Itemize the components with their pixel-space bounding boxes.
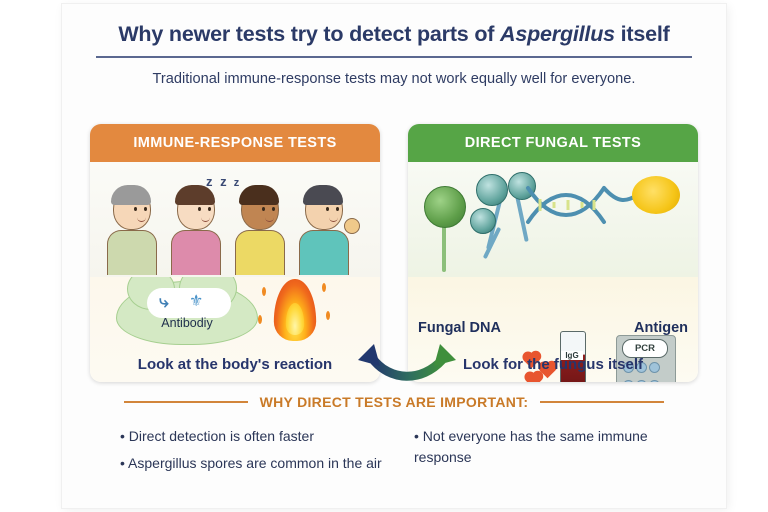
panel-direct-fungal-tests: DIRECT FUNGAL TESTS (408, 124, 698, 382)
person-mouth (201, 217, 210, 222)
flame-spark-icon (322, 283, 326, 292)
person-eye (326, 207, 329, 211)
footer-bullet: • Not everyone has the same immune respo… (414, 426, 696, 468)
conidiophore-head (424, 186, 466, 228)
panel-immune-response-tests: IMMUNE-RESPONSE TESTS (90, 124, 380, 382)
person-eye (262, 207, 265, 211)
person-body (107, 230, 157, 275)
conidiophore-head (470, 208, 496, 234)
person-mouth (265, 217, 274, 222)
people-group-illustration: z z z (102, 174, 368, 274)
footer-bullet-text: Aspergillus spores are common in the air (128, 455, 382, 471)
header: Why newer tests try to detect parts of A… (96, 22, 692, 87)
antibody-molecule-icon: ⤷ (159, 292, 169, 312)
person-body (171, 230, 221, 275)
comparison-panels: IMMUNE-RESPONSE TESTS (90, 124, 698, 384)
person-figure (104, 188, 158, 274)
flame-spark-icon (326, 311, 330, 320)
inflammation-flame-icon (274, 279, 316, 341)
panel-right-caption: Look for the fungus itself (408, 356, 698, 373)
person-eye (144, 207, 147, 211)
person-eye (272, 207, 275, 211)
footer-rule-left (124, 401, 248, 403)
footer-column-left: • Direct detection is often faster • Asp… (92, 426, 394, 480)
person-eye (336, 207, 339, 211)
person-hair (111, 185, 151, 205)
footer-bullet: • Aspergillus spores are common in the a… (120, 453, 394, 474)
person-mouth (329, 217, 338, 222)
person-figure (296, 188, 350, 274)
zzz-lower-text: z (234, 177, 242, 189)
pcr-well (636, 380, 647, 382)
antibody-label: Antibodiy (117, 316, 257, 330)
footer-section: WHY DIRECT TESTS ARE IMPORTANT: • Direct… (92, 394, 696, 480)
cough-hand-icon (344, 218, 360, 234)
panel-right-illustration (408, 162, 698, 277)
panel-left-heading: IMMUNE-RESPONSE TESTS (90, 124, 380, 162)
flame-spark-icon (258, 315, 262, 324)
footer-rule-right (540, 401, 664, 403)
footer-bullet-text: Direct detection is often faster (129, 428, 314, 444)
person-hair (303, 185, 343, 205)
title-divider (96, 56, 692, 58)
conidiophore-head (476, 174, 508, 206)
person-figure (232, 188, 286, 274)
footer-bullet-text: Not everyone has the same immune respons… (414, 428, 648, 465)
infographic-card: Why newer tests try to detect parts of A… (62, 4, 726, 508)
panel-left-caption: Look at the body's reaction (90, 356, 380, 373)
footer-heading-row: WHY DIRECT TESTS ARE IMPORTANT: (92, 394, 696, 410)
person-hair (239, 185, 279, 205)
panel-left-illustration: z z z (90, 162, 380, 277)
page-title: Why newer tests try to detect parts of A… (96, 22, 692, 47)
zzz-upper-text: z z (206, 174, 229, 189)
infographic-root: Why newer tests try to detect parts of A… (0, 0, 768, 512)
title-species-name: Aspergillus (500, 22, 615, 46)
fungal-dna-label: Fungal DNA (418, 320, 501, 336)
panel-right-heading: DIRECT FUNGAL TESTS (408, 124, 698, 162)
person-body (235, 230, 285, 275)
person-eye (134, 207, 137, 211)
title-text-pre: Why newer tests try to detect parts of (118, 22, 500, 46)
footer-columns: • Direct detection is often faster • Asp… (92, 426, 696, 480)
panel-right-lower: IgG PCR Fungal DNA Antigen Look for the … (408, 277, 698, 382)
pcr-well (623, 380, 634, 382)
person-eye (198, 207, 201, 211)
footer-column-right: • Not everyone has the same immune respo… (394, 426, 696, 480)
title-text-post: itself (615, 22, 670, 46)
dna-helix-icon (524, 178, 644, 232)
antigen-particle (526, 373, 542, 382)
person-body (299, 230, 349, 275)
footer-bullet: • Direct detection is often faster (120, 426, 394, 447)
spore-cluster-icon (632, 176, 680, 214)
person-figure (168, 188, 222, 274)
antibody-y-shape-icon: ⚜ (189, 291, 203, 311)
footer-title: WHY DIRECT TESTS ARE IMPORTANT: (260, 394, 529, 410)
antibody-cloud-icon: ⤷ ⚜ Antibodiy (116, 281, 258, 345)
flame-spark-icon (262, 287, 266, 296)
person-eye (208, 207, 211, 211)
pcr-well (649, 380, 660, 382)
antigen-label: Antigen (634, 320, 688, 336)
sleep-zzz-icon: z z z (206, 174, 241, 189)
subtitle: Traditional immune-response tests may no… (96, 71, 692, 87)
person-mouth (137, 217, 146, 222)
panel-left-lower: ⤷ ⚜ Antibodiy Look at the body's reactio… (90, 277, 380, 382)
